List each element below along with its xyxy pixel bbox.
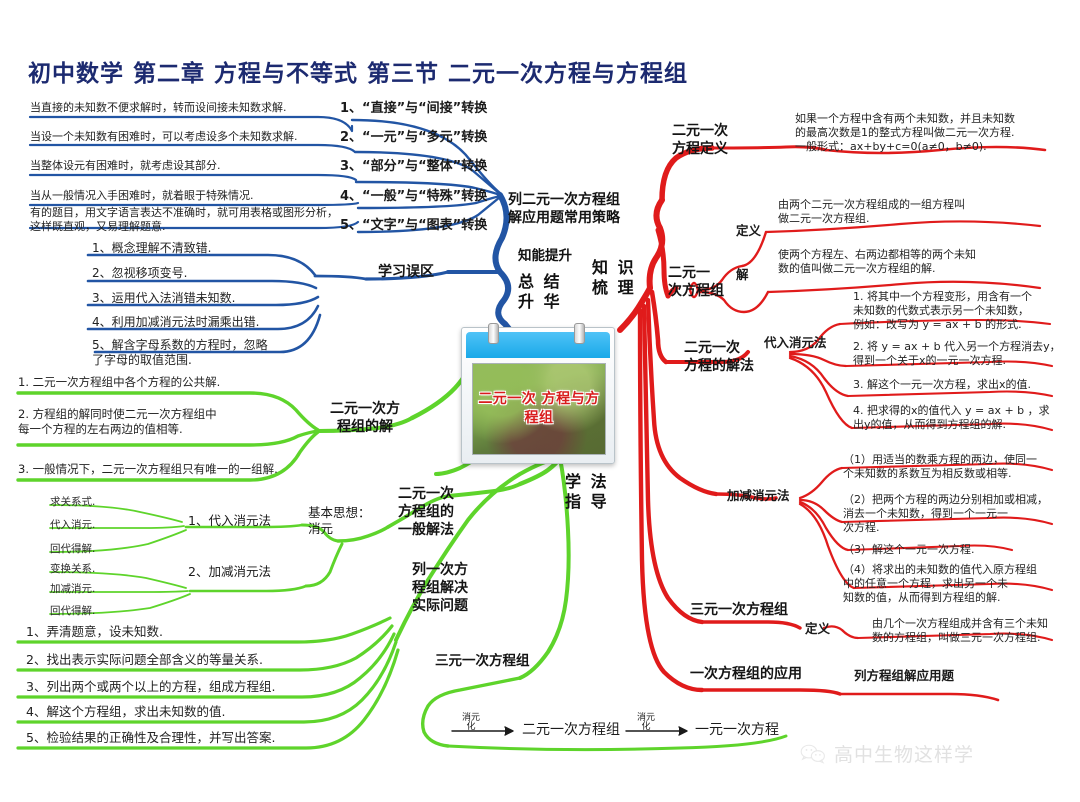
node-application-red: 一次方程组的应用 [690, 666, 802, 684]
card-ring-left [488, 323, 499, 344]
strategy-label-1: 1、“直接”与“间接”转换 [340, 101, 487, 118]
solution-item-3: 3. 一般情况下，二元一次方程组只有唯一的一组解. [18, 462, 278, 477]
page-title: 初中数学 第二章 方程与不等式 第三节 二元一次方程与方程组 [28, 60, 688, 89]
node-definition: 二元一次 方程定义 [672, 123, 728, 159]
card-title: 二元一次 方程与方程组 [473, 390, 605, 428]
label-ability: 知能提升 [518, 248, 572, 265]
method1-step-1: 求关系式. [50, 496, 95, 509]
method2-step-1: 变换关系. [50, 563, 95, 576]
elimination-step-1: （1）用适当的数乘方程的两边，使同一 个未知数的系数互为相反数或相等. [843, 453, 1037, 481]
strategy-detail-5: 有的题目，用文字语言表达不准确时，就可用表格或图形分析， 这样既直观，又易理解题… [30, 206, 338, 234]
method-label-1: 1、代入消元法 [188, 513, 271, 529]
strategy-detail-2: 当设一个未知数有困难时，可以考虑设多个未知数求解. [30, 130, 298, 144]
mindmap-canvas: 初中数学 第二章 方程与不等式 第三节 二元一次方程与方程组 当直接的未知数不便… [0, 0, 1080, 802]
label-knowledge: 知 识 梳 理 [592, 258, 636, 299]
node-solving: 二元一次 方程的解法 [684, 340, 754, 376]
watermark-text: 高中生物这样学 [834, 740, 974, 767]
node-ternary-red: 三元一次方程组 [690, 602, 788, 620]
system-sub-text-1: 由两个二元一次方程组成的一组方程叫 做二元一次方程组. [778, 198, 965, 226]
strategy-label-3: 3、“部分”与“整体”转换 [340, 159, 487, 176]
node-ternary-green: 三元一次方程组 [435, 653, 530, 670]
label-study-guide: 学 法 指 导 [565, 472, 609, 513]
method-label-2: 2、加减消元法 [188, 564, 271, 580]
misconception-2: 2、忽视移项变号. [92, 266, 187, 281]
elimination-step-3: （3）解这个一元一次方程. [843, 543, 975, 557]
strategy-label-4: 4、“一般”与“特殊”转换 [340, 189, 487, 206]
app-step-5: 5、检验结果的正确性及合理性，并写出答案. [26, 730, 275, 746]
strategy-label-5: 5、“文字”与“图表”转换 [340, 218, 487, 235]
application-text-red: 列方程组解应用题 [854, 668, 954, 684]
method2-step-3: 回代得解. [50, 605, 95, 618]
misconception-5: 5、解含字母系数的方程时，忽略 了字母的取值范围. [92, 338, 268, 369]
elimination-step-2: （2）把两个方程的两边分别相加或相减， 消去一个未知数，得到一个一元一 次方程. [843, 493, 1048, 535]
app-step-4: 4、解这个方程组，求出未知数的值. [26, 704, 225, 720]
system-sub-label-1: 定义 [736, 223, 761, 239]
flow-op-1: 消元 化 [462, 714, 480, 733]
node-general-method: 二元一次 方程组的 一般解法 [398, 486, 454, 540]
strategy-label-2: 2、“一元”与“多元”转换 [340, 130, 487, 147]
strategy-detail-1: 当直接的未知数不便求解时，转而设间接未知数求解. [30, 101, 287, 115]
substitution-step-2: 2. 将 y = ax + b 代入另一个方程消去y， 得到一个关于x的一元一次… [853, 340, 1061, 368]
flow-op-2: 消元 化 [637, 714, 655, 733]
solution-item-1: 1. 二元一次方程组中各个方程的公共解. [18, 375, 220, 390]
app-step-1: 1、弄清题意，设未知数. [26, 624, 163, 640]
label-ternary-definition: 定义 [805, 621, 830, 637]
misconception-4: 4、利用加减消元法时漏乘出错. [92, 315, 259, 330]
method2-step-2: 加减消元. [50, 583, 95, 596]
wechat-icon [800, 743, 826, 765]
strategy-detail-4: 当从一般情况入手困难时，就着眼于特殊情况. [30, 189, 254, 203]
substitution-step-4: 4. 把求得的x的值代入 y = ax + b ，求 出y的值，从而得到方程组的… [853, 404, 1050, 432]
substitution-step-1: 1. 将其中一个方程变形，用含有一个 未知数的代数式表示另一个未知数， 例如：改… [853, 290, 1032, 332]
misconception-3: 3、运用代入法消错未知数. [92, 291, 235, 306]
node-misconception: 学习误区 [378, 264, 434, 282]
app-step-2: 2、找出表示实际问题全部含义的等量关系. [26, 652, 263, 668]
label-substitution: 代入消元法 [764, 335, 827, 351]
flow-end: 一元一次方程 [695, 722, 779, 740]
method1-step-2: 代入消元. [50, 519, 95, 532]
node-solution: 二元一次方 程组的解 [330, 401, 400, 437]
center-card: 二元一次 方程与方程组 [461, 327, 615, 464]
card-ring-right [574, 323, 585, 344]
app-step-3: 3、列出两个或两个以上的方程，组成方程组. [26, 679, 275, 695]
definition-text: 如果一个方程中含有两个未知数，并且未知数 的最高次数是1的整式方程叫做二元一次方… [795, 112, 1015, 154]
watermark: 高中生物这样学 [800, 740, 974, 767]
label-summary: 总 结 升 华 [518, 272, 562, 313]
basic-idea: 基本思想： 消元 [308, 505, 371, 537]
system-sub-text-2: 使两个方程左、右两边都相等的两个未知 数的值叫做二元一次方程组的解. [778, 248, 976, 276]
node-system: 二元一 次方程组 [668, 265, 724, 301]
node-application-green: 列一次方 程组解决 实际问题 [412, 562, 468, 616]
substitution-step-3: 3. 解这个一元一次方程，求出x的值. [853, 378, 1031, 392]
card-photo: 二元一次 方程与方程组 [472, 363, 606, 455]
system-sub-label-2: 解 [736, 267, 749, 283]
ternary-definition-text: 由几个一次方程组成并含有三个未知 数的方程组，叫做三元一次方程组. [872, 617, 1048, 645]
misconception-1: 1、概念理解不清致错. [92, 241, 211, 256]
label-elimination: 加减消元法 [727, 488, 790, 504]
elimination-step-4: （4）将求出的未知数的值代入原方程组 中的任意一个方程，求出另一个未 知数的值，… [843, 563, 1037, 605]
flow-mid: 二元一次方程组 [522, 722, 620, 740]
strategy-detail-3: 当整体设元有困难时，就考虑设其部分. [30, 159, 221, 173]
solution-item-2: 2. 方程组的解同时使二元一次方程组中 每一个方程的左右两边的值相等. [18, 407, 217, 436]
node-strategy: 列二元一次方程组 解应用题常用策略 [508, 192, 620, 228]
method1-step-3: 回代得解. [50, 543, 95, 556]
